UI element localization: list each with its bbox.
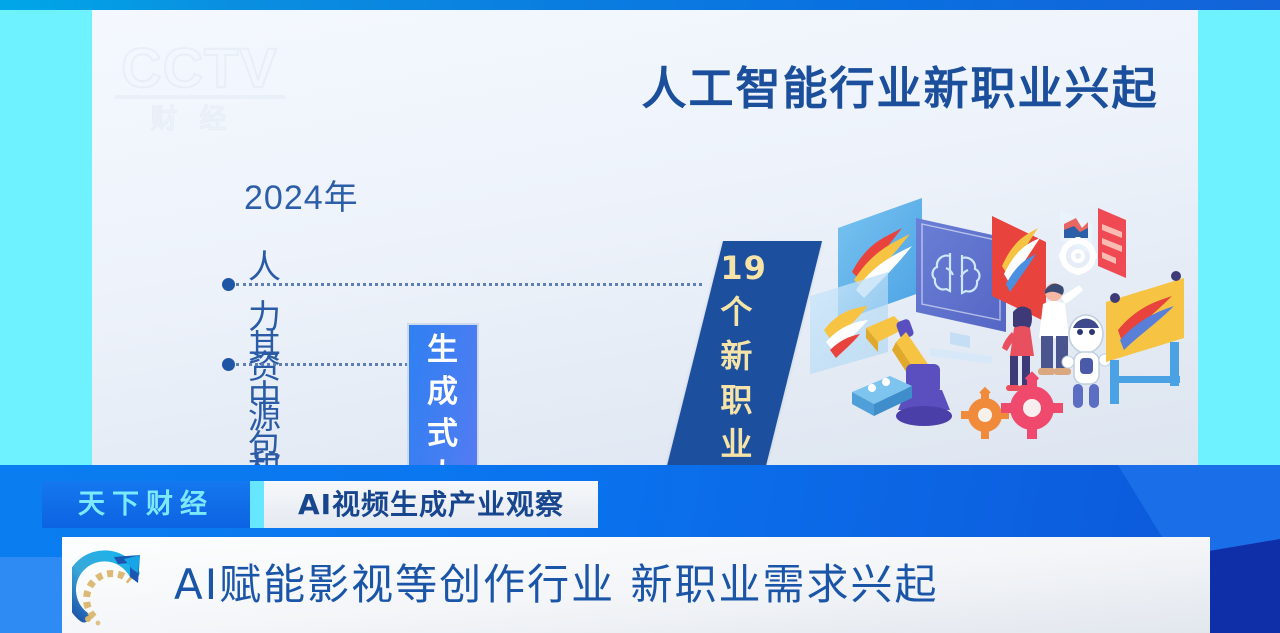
status-badge-label: 生成式人工智能系统应用员 — [427, 329, 459, 465]
bullet-dot-icon — [222, 358, 235, 371]
year-label: 2024年 — [244, 170, 359, 219]
ai-creative-isometric-illustration — [810, 180, 1198, 455]
left-cyan-band — [0, 10, 92, 465]
dotted-underline — [236, 283, 702, 286]
status-badge-label: 19个新职业 — [720, 246, 767, 465]
right-cyan-band — [1198, 10, 1280, 465]
page-title: 人工智能行业新职业兴起 — [620, 60, 1180, 118]
status-badge: 19个新职业 — [665, 241, 822, 465]
cctv2-watermark-logo: CCTV 财经 — [92, 35, 317, 140]
topic-badge: AI视频生成产业观察 — [264, 481, 598, 528]
broadcast-frame: CCTV 财经 人工智能行业新职业兴起 2024年 人力资源和社会保障部发布 1… — [0, 0, 1280, 633]
program-name-badge: 天下财经 — [42, 481, 250, 528]
program-name-label: 天下财经 — [78, 481, 214, 528]
content-panel: CCTV 财经 人工智能行业新职业兴起 2024年 人力资源和社会保障部发布 1… — [92, 10, 1198, 465]
cctv-watermark-sub: 财经 — [92, 97, 317, 136]
mobile-card — [1098, 208, 1126, 278]
cctv-watermark-text: CCTV — [92, 35, 317, 100]
top-blue-bar — [0, 0, 1280, 10]
cctv-finance-circular-arrow-logo — [72, 543, 164, 629]
topic-label: AI视频生成产业观察 — [298, 481, 564, 528]
status-badge: 生成式人工智能系统应用员 — [407, 323, 479, 465]
list-item-label: 其中包括 — [248, 322, 283, 465]
headline-bar: AI赋能影视等创作行业 新职业需求兴起 — [62, 537, 1210, 633]
screen-easel-right — [1106, 271, 1184, 404]
robot — [1062, 315, 1111, 408]
headline-label: AI赋能影视等创作行业 新职业需求兴起 — [174, 537, 938, 633]
bullet-dot-icon — [222, 278, 235, 291]
badge-cyan-accent — [250, 481, 264, 528]
